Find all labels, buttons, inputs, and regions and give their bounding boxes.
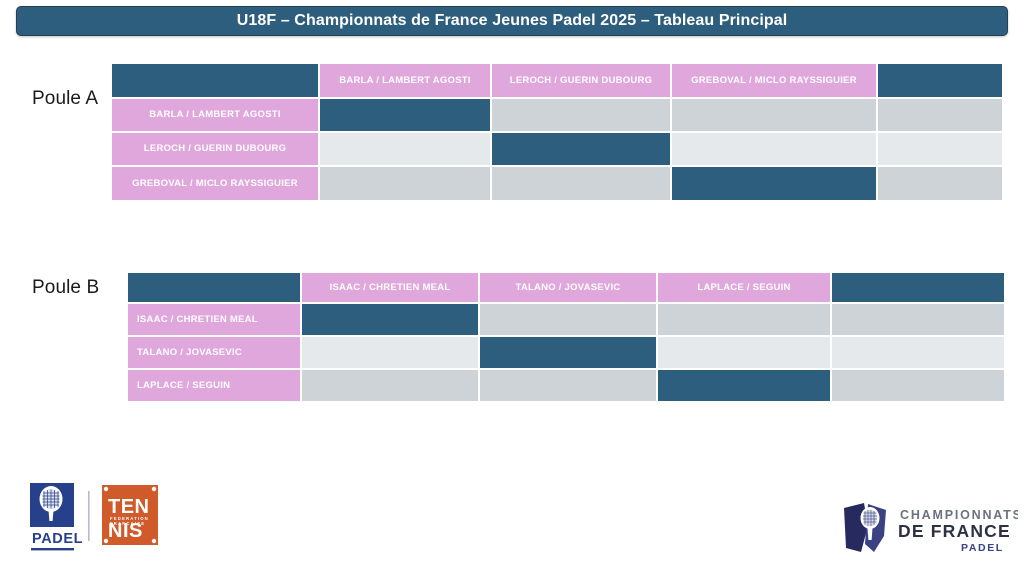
poule-a-cell-r1c2[interactable] [492,99,670,131]
poule-b-col-header-1: ISAAC / CHRETIEN MEAL [302,273,478,302]
poule-a-cell-r1c1 [320,99,490,131]
poule-b-cell-r1c3[interactable] [658,304,830,335]
poule-b-col-header-3: LAPLACE / SEGUIN [658,273,830,302]
poule-a-cell-r1c3[interactable] [672,99,876,131]
poule-a-col-header-1-label: BARLA / LAMBERT AGOSTI [339,76,470,86]
poule-b-corner-cell [128,273,300,302]
poule-a-row-header-3: GREBOVAL / MICLO RAYSSIGUIER [112,167,318,200]
poule-b-cell-r3c3 [658,370,830,401]
poule-a-row-header-2: LEROCH / GUERIN DUBOURG [112,133,318,165]
poule-b-cell-r3c1[interactable] [302,370,478,401]
poule-a-label: Poule A [32,88,98,110]
poule-b-cell-r2c2 [480,337,656,368]
poule-a-cell-r3c3 [672,167,876,200]
poule-a-col-header-2: LEROCH / GUERIN DUBOURG [492,64,670,97]
poule-b-col-header-4 [832,273,1004,302]
fft-padel-logo: PADEL TEN NIS FEDERATION FRANCAISE [18,477,166,557]
championnats-line1: CHAMPIONNATS [900,508,1018,522]
championnats-line3: PADEL [961,542,1004,554]
poule-a-col-header-3-label: GREBOVAL / MICLO RAYSSIGUIER [691,76,857,86]
championnats-de-france-logo: CHAMPIONNATS DE FRANCE PADEL [838,500,1018,558]
poule-b-table: ISAAC / CHRETIEN MEAL TALANO / JOVASEVIC… [128,273,996,401]
poule-a-table: BARLA / LAMBERT AGOSTI LEROCH / GUERIN D… [112,64,996,200]
poule-b-col-header-2: TALANO / JOVASEVIC [480,273,656,302]
page-title-bar: U18F – Championnats de France Jeunes Pad… [16,6,1008,36]
poule-b-row-header-3-label: LAPLACE / SEGUIN [137,381,230,391]
poule-a-corner-cell [112,64,318,97]
page-title: U18F – Championnats de France Jeunes Pad… [237,12,788,30]
poule-b-row-header-1: ISAAC / CHRETIEN MEAL [128,304,300,335]
poule-a-row-header-1-label: BARLA / LAMBERT AGOSTI [149,110,280,120]
poule-a-cell-r2c1[interactable] [320,133,490,165]
fft-francaise-text: FRANCAISE [110,521,145,526]
poule-a-row-header-3-label: GREBOVAL / MICLO RAYSSIGUIER [132,179,298,189]
padel-wordmark: PADEL [32,531,83,547]
poule-b-cell-r2c1[interactable] [302,337,478,368]
championnats-emblem-icon [844,503,886,552]
poule-b-col-header-3-label: LAPLACE / SEGUIN [697,283,790,293]
poule-b-row-header-1-label: ISAAC / CHRETIEN MEAL [137,315,258,325]
poule-b-row-header-3: LAPLACE / SEGUIN [128,370,300,401]
poule-b-row-header-2-label: TALANO / JOVASEVIC [137,348,242,358]
poule-a-cell-r2c2 [492,133,670,165]
poule-b-cell-r3c4[interactable] [832,370,1004,401]
poule-a-cell-r3c1[interactable] [320,167,490,200]
poule-a-col-header-3: GREBOVAL / MICLO RAYSSIGUIER [672,64,876,97]
poule-a-row-header-2-label: LEROCH / GUERIN DUBOURG [144,144,286,154]
championnats-line2: DE FRANCE [898,521,1011,541]
poule-a-cell-r2c3[interactable] [672,133,876,165]
poule-b-cell-r2c3[interactable] [658,337,830,368]
poule-a-col-header-1: BARLA / LAMBERT AGOSTI [320,64,490,97]
poule-b-cell-r1c4[interactable] [832,304,1004,335]
poule-a-col-header-4 [878,64,1002,97]
poule-a-row-header-1: BARLA / LAMBERT AGOSTI [112,99,318,131]
poule-b-cell-r1c1 [302,304,478,335]
poule-a-cell-r1c4[interactable] [878,99,1002,131]
poule-b-col-header-1-label: ISAAC / CHRETIEN MEAL [330,283,451,293]
poule-a-cell-r3c2[interactable] [492,167,670,200]
poule-b-cell-r2c4[interactable] [832,337,1004,368]
poule-a-cell-r3c4[interactable] [878,167,1002,200]
poule-a-cell-r2c4[interactable] [878,133,1002,165]
poule-a-col-header-2-label: LEROCH / GUERIN DUBOURG [510,76,652,86]
poule-b-cell-r3c2[interactable] [480,370,656,401]
poule-b-cell-r1c2[interactable] [480,304,656,335]
poule-b-col-header-2-label: TALANO / JOVASEVIC [516,283,621,293]
poule-b-label: Poule B [32,277,99,299]
fft-ten-text: TEN [108,496,150,518]
poule-b-row-header-2: TALANO / JOVASEVIC [128,337,300,368]
